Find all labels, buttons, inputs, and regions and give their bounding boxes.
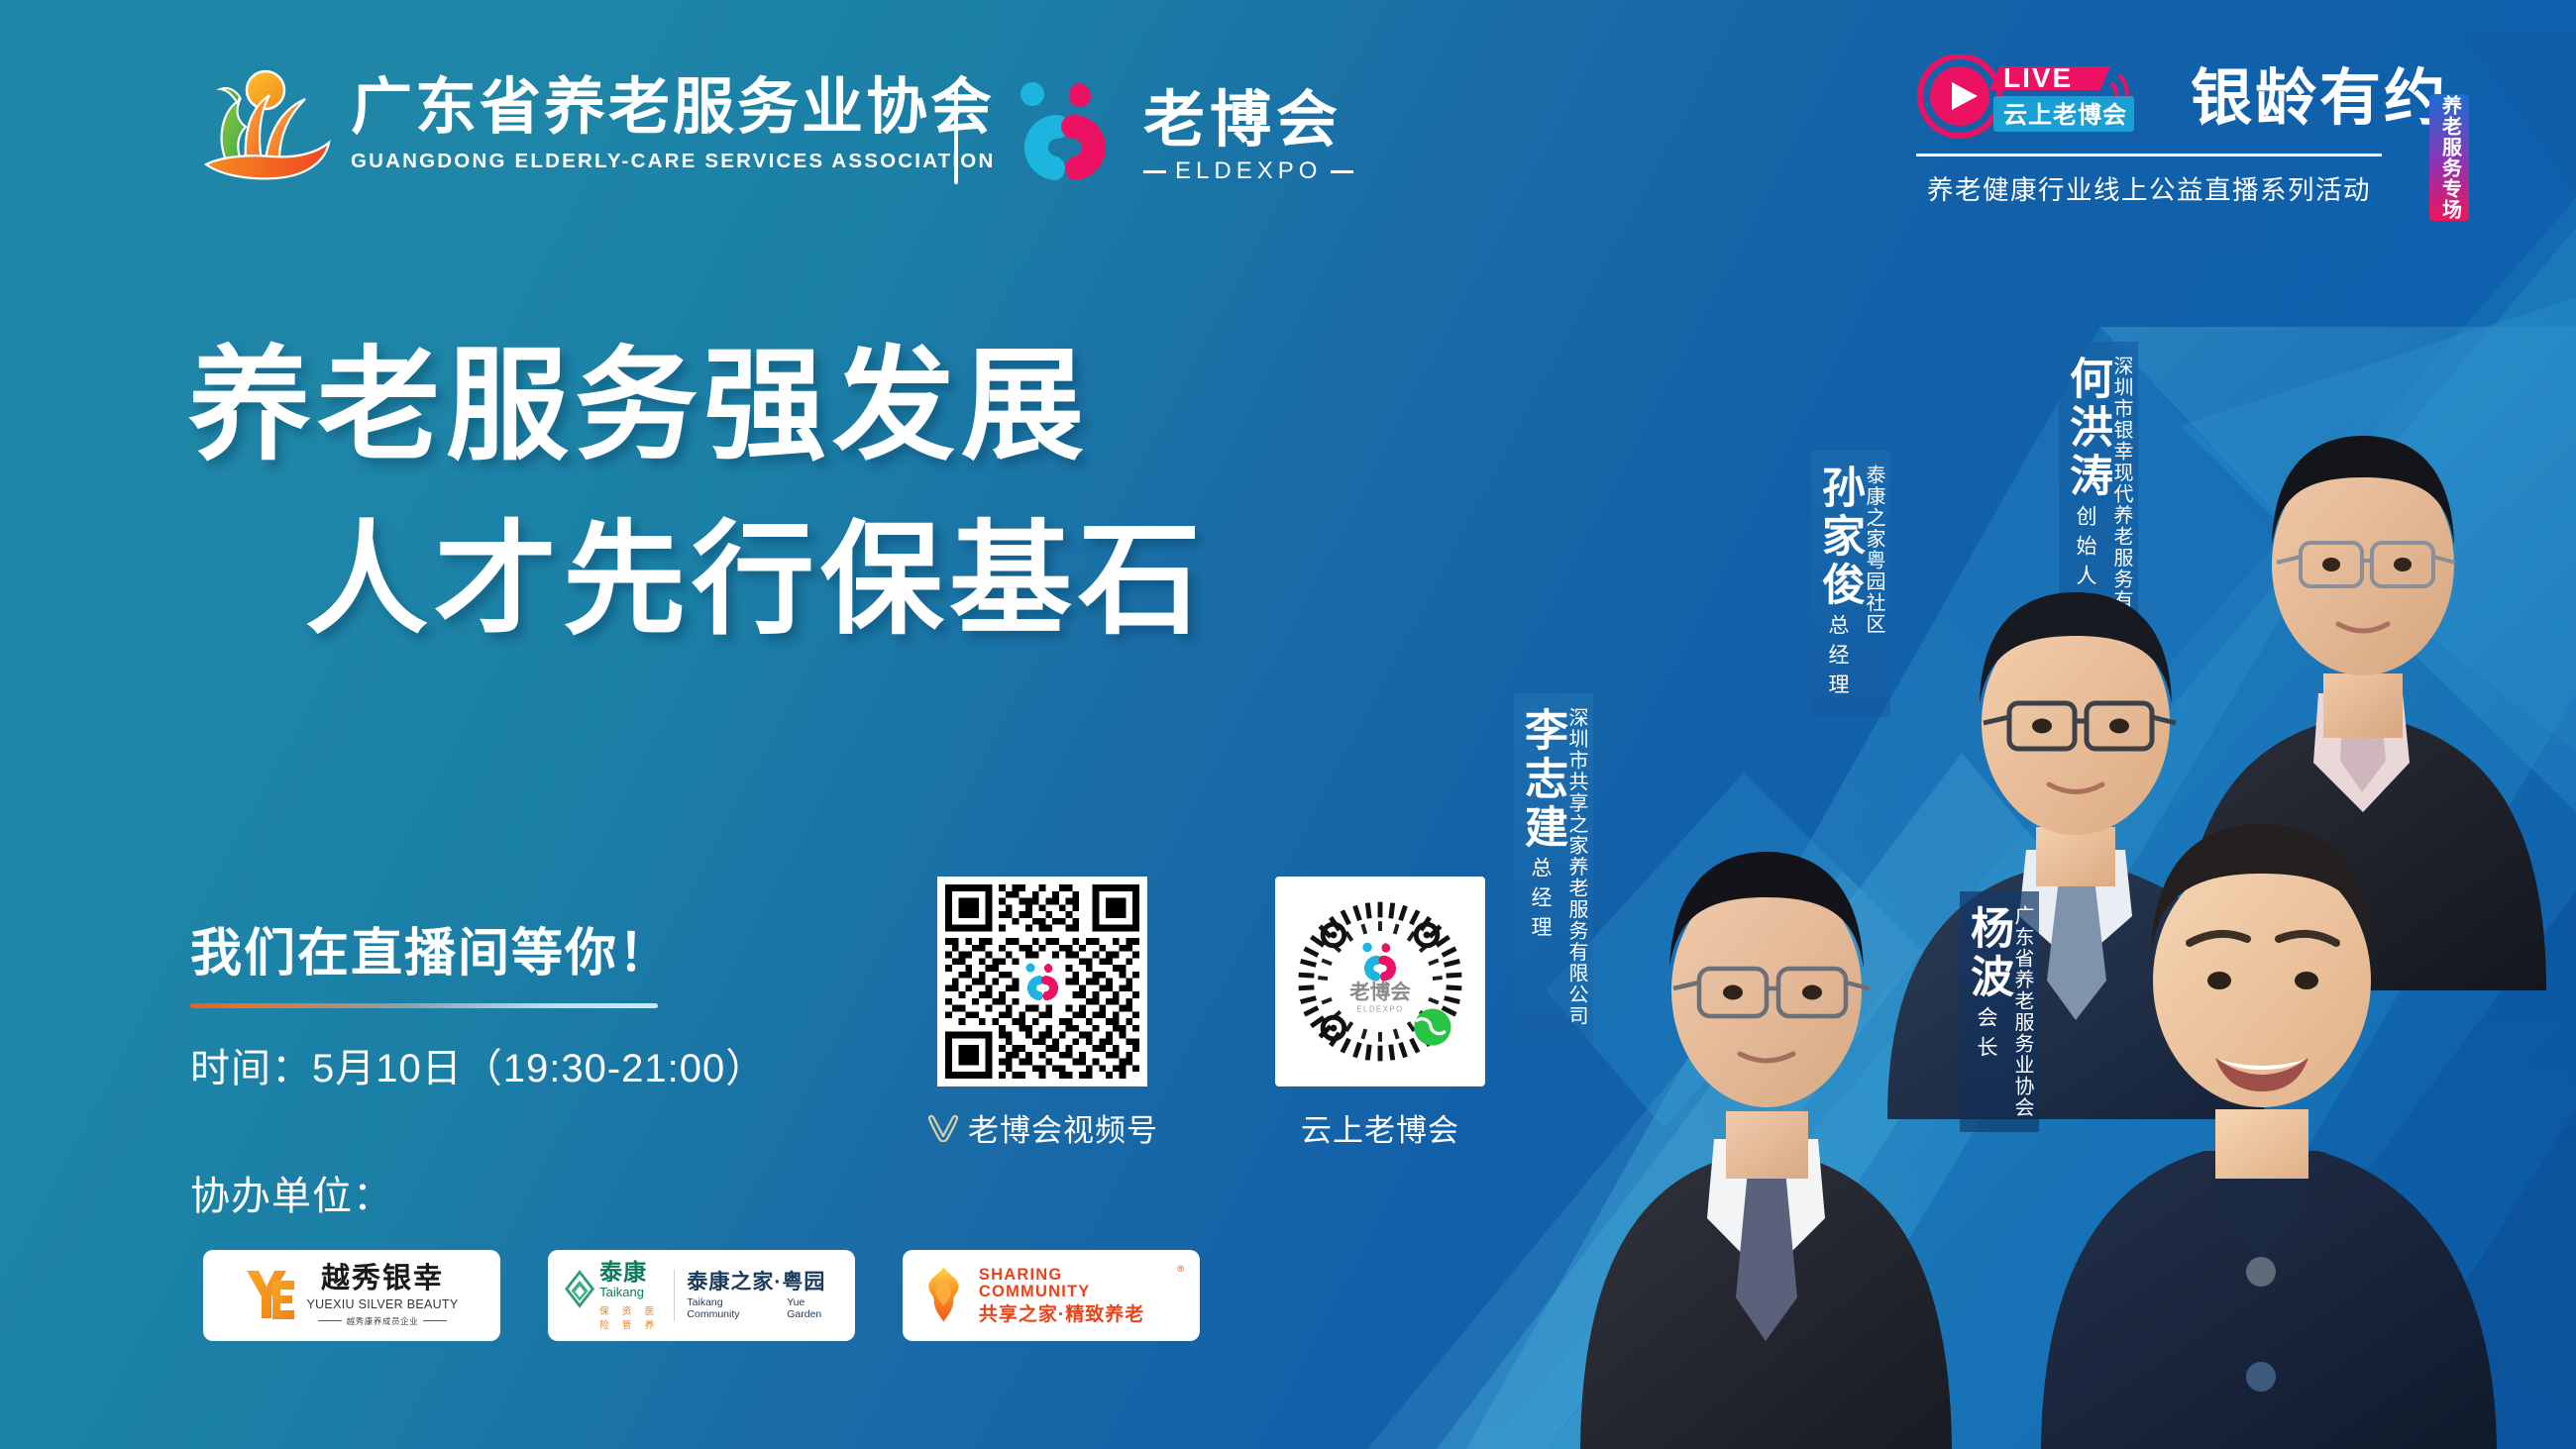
headline-line-2: 人才先行保基石 (188, 493, 1207, 668)
speaker-title-yang-bo: 会长 (1976, 1006, 1996, 1066)
qr-code-group: 老博会视频号 (926, 877, 1485, 1150)
sponsor-card-taikang[interactable]: 泰康 Taikang 保险 资管 医养 泰康之家·粤园 Taikang Comm… (548, 1250, 855, 1341)
vertical-session-badge: 养老服务专场 (2429, 94, 2469, 221)
qr-code-channels[interactable] (937, 877, 1147, 1087)
sponsors-title: 协办单位： (190, 1164, 393, 1221)
name-plate-yang-bo: 杨波 会长 广东省养老服务业协会 (1960, 891, 2039, 1132)
sprout-sun-hands-logo-icon (188, 57, 337, 191)
speaker-name-li-zhijian: 李志建 (1520, 707, 1563, 853)
association-name-cn: 广东省养老服务业协会 (351, 75, 995, 140)
speaker-title-li-zhijian: 总经理 (1530, 857, 1551, 946)
sponsor-taikang-divider (674, 1270, 675, 1321)
sponsor-card-yuexiu[interactable]: 越秀银幸 YUEXIU SILVER BEAUTY 越秀康养成员企业 (203, 1250, 500, 1341)
sponsor-taikang-right-en-2: Yue Garden (787, 1296, 839, 1320)
header-divider (954, 87, 958, 184)
sponsor-taikang-kw-2: 医养 (645, 1303, 663, 1331)
svg-text:ELDEXPO: ELDEXPO (1356, 1004, 1403, 1013)
eldexpo-dash-left (1143, 170, 1166, 173)
association-logo: 广东省养老服务业协会 GUANGDONG ELDERLY-CARE SERVIC… (188, 57, 995, 191)
svg-text:老博会: 老博会 (1348, 981, 1411, 1004)
eldexpo-logo: 老博会 ELDEXPO (1011, 77, 1353, 196)
qr-item-channels[interactable]: 老博会视频号 (926, 877, 1158, 1150)
event-info-time: 时间：5月10日（19:30-21:00） (190, 1036, 766, 1093)
sponsor-yuexiu-en: YUEXIU SILVER BEAUTY (306, 1297, 458, 1311)
qr-code-radial-image: 老博会 ELDEXPO (1283, 884, 1477, 1079)
flame-tulip-icon (918, 1265, 969, 1326)
eldexpo-two-figures-logo-icon (1011, 77, 1122, 196)
qr-label-channels: 老博会视频号 (968, 1105, 1158, 1150)
sponsor-card-sharing-community[interactable]: SHARING COMMUNITY ® 共享之家·精致养老 (903, 1250, 1200, 1341)
qr-code-miniprogram[interactable]: 老博会 ELDEXPO (1275, 877, 1485, 1087)
live-rule (1916, 154, 2382, 156)
ye-monogram-icon (245, 1267, 296, 1324)
qr-label-miniprogram: 云上老博会 (1301, 1105, 1459, 1150)
taikang-diamond-icon (564, 1267, 595, 1324)
live-banner: LIVE 云上老博会 银龄有约 养老健康行业线上公益直播系列活动 (1916, 54, 2382, 207)
speaker-name-sun-jiajun: 孙家俊 (1817, 465, 1861, 610)
headline-line-1: 养老服务强发展 (188, 319, 1207, 493)
sponsor-sharing-registered: ® (1177, 1264, 1184, 1274)
eldexpo-name-cn: 老博会 (1143, 88, 1353, 153)
event-info-rule (190, 1003, 658, 1008)
event-info: 我们在直播间等你！ 时间：5月10日（19:30-21:00） (190, 911, 766, 1093)
svg-text:LIVE: LIVE (2003, 62, 2073, 93)
sponsor-taikang-brand-en: Taikang (599, 1286, 644, 1298)
vertical-session-badge-label: 养老服务专场 (2438, 95, 2461, 220)
sponsor-sharing-cn: 共享之家·精致养老 (979, 1305, 1184, 1324)
wechat-channels-icon (926, 1114, 960, 1142)
live-event-poster: 广东省养老服务业协会 GUANGDONG ELDERLY-CARE SERVIC… (0, 0, 2576, 1449)
event-info-title: 我们在直播间等你！ (190, 911, 766, 985)
sponsor-sharing-en: SHARING COMMUNITY (979, 1267, 1175, 1299)
eldexpo-name-en: ELDEXPO (1175, 157, 1322, 185)
svg-text:云上老博会: 云上老博会 (2003, 101, 2127, 129)
headline: 养老服务强发展 人才先行保基石 (188, 319, 1207, 668)
association-name-en: GUANGDONG ELDERLY-CARE SERVICES ASSOCIAT… (351, 150, 995, 173)
speaker-photo-yang-bo (2031, 683, 2526, 1449)
sponsor-taikang-kw-0: 保险 (599, 1303, 617, 1331)
sponsor-taikang-kw-1: 资管 (622, 1303, 640, 1331)
qr-code-image (945, 884, 1139, 1079)
speaker-photo-li-zhijian (1565, 624, 1962, 1449)
sponsor-taikang-brand-cn: 泰康 (599, 1261, 647, 1284)
sponsor-taikang-right-en-1: Taikang Community (687, 1296, 773, 1320)
live-subtitle: 养老健康行业线上公益直播系列活动 (1916, 168, 2382, 207)
qr-item-miniprogram[interactable]: 老博会 ELDEXPO 云上老博会 (1275, 877, 1485, 1150)
live-badge-icon: LIVE 云上老博会 (1916, 54, 2179, 144)
speaker-name-yang-bo: 杨波 (1966, 905, 2009, 1002)
speaker-org-li-zhijian: 深圳市共享之家养老服务有限公司 (1565, 707, 1587, 1027)
speaker-org-sun-jiajun: 泰康之家粤园社区 (1863, 465, 1884, 635)
eldexpo-dash-right (1331, 170, 1353, 173)
live-title: 银龄有约 (2191, 68, 2448, 130)
poster-header: 广东省养老服务业协会 GUANGDONG ELDERLY-CARE SERVIC… (0, 0, 2576, 248)
speaker-org-yang-bo: 广东省养老服务业协会 (2011, 905, 2033, 1118)
sponsor-yuexiu-tagline: 越秀康养成员企业 (347, 1315, 419, 1327)
name-plate-li-zhijian: 李志建 总经理 深圳市共享之家养老服务有限公司 (1514, 693, 1593, 1041)
sponsor-yuexiu-cn: 越秀银幸 (321, 1265, 444, 1294)
sponsor-yuexiu-dash-left (318, 1320, 342, 1321)
sponsor-yuexiu-dash-right (423, 1320, 447, 1321)
sponsor-logo-row: 越秀银幸 YUEXIU SILVER BEAUTY 越秀康养成员企业 (203, 1250, 1200, 1341)
sponsor-taikang-right-cn: 泰康之家·粤园 (687, 1271, 839, 1294)
